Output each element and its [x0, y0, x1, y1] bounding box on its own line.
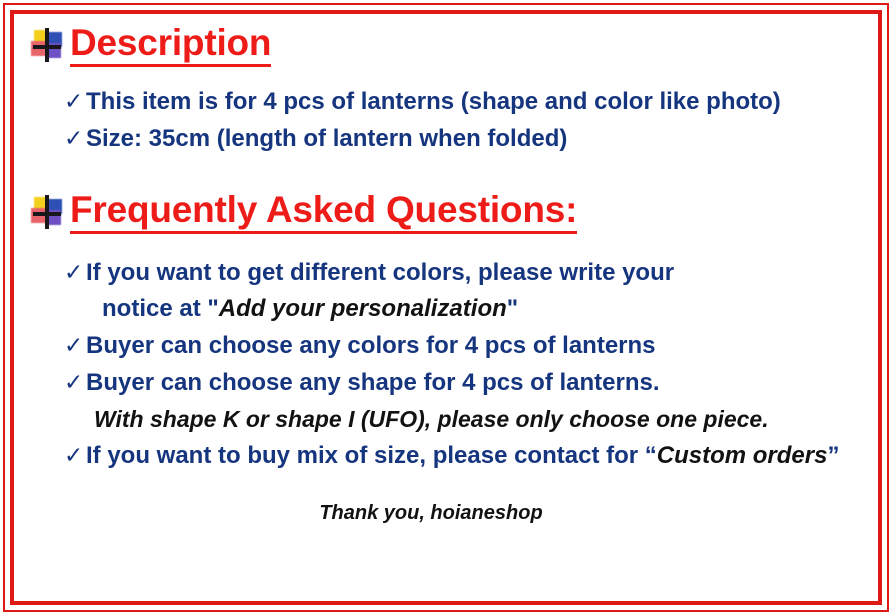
checkmark-icon: ✓: [64, 83, 86, 119]
footer-signature: Thank you, hoianeshop: [22, 502, 870, 525]
faq-heading: Frequently Asked Questions:: [70, 191, 577, 234]
list-item: ✓ Buyer can choose any colors for 4 pcs …: [64, 327, 870, 364]
colored-cross-icon: [30, 28, 64, 62]
description-heading: Description: [70, 24, 271, 67]
description-heading-row: Description: [30, 24, 870, 67]
icon-cross-horizontal: [33, 212, 61, 216]
custom-orders-prefix: If you want to buy mix of size, please c…: [86, 442, 657, 469]
checkmark-icon: ✓: [64, 254, 86, 290]
icon-cross-horizontal: [33, 45, 61, 49]
checkmark-icon: ✓: [64, 327, 86, 363]
description-list: ✓ This item is for 4 pcs of lanterns (sh…: [64, 83, 870, 157]
shape-note: With shape K or shape I (UFO), please on…: [94, 401, 870, 437]
continuation-suffix: ": [507, 295, 518, 322]
custom-orders-emphasis: Custom orders: [657, 442, 828, 469]
checkmark-icon: ✓: [64, 437, 86, 473]
list-item: ✓ If you want to get different colors, p…: [64, 254, 870, 291]
checkmark-icon: ✓: [64, 364, 86, 400]
list-item: ✓ Size: 35cm (length of lantern when fol…: [64, 120, 870, 157]
list-item-text: Size: 35cm (length of lantern when folde…: [86, 121, 567, 157]
custom-orders-suffix: ”: [827, 442, 839, 469]
list-item-text: Buyer can choose any colors for 4 pcs of…: [86, 328, 656, 364]
faq-heading-row: Frequently Asked Questions:: [30, 191, 870, 234]
list-item-text: If you want to get different colors, ple…: [86, 255, 674, 291]
list-item: ✓ This item is for 4 pcs of lanterns (sh…: [64, 83, 870, 120]
list-item: ✓ If you want to buy mix of size, please…: [64, 437, 870, 474]
list-item-continuation: notice at "Add your personalization": [102, 291, 870, 327]
document-content: Description ✓ This item is for 4 pcs of …: [0, 0, 892, 615]
faq-list: ✓ If you want to get different colors, p…: [64, 254, 870, 474]
list-item: ✓ Buyer can choose any shape for 4 pcs o…: [64, 364, 870, 401]
checkmark-icon: ✓: [64, 120, 86, 156]
list-item-text: If you want to buy mix of size, please c…: [86, 438, 839, 474]
personalization-emphasis: Add your personalization: [219, 295, 507, 322]
list-item-text: This item is for 4 pcs of lanterns (shap…: [86, 84, 781, 120]
colored-cross-icon: [30, 195, 64, 229]
list-item-text: Buyer can choose any shape for 4 pcs of …: [86, 365, 660, 401]
description-document: Description ✓ This item is for 4 pcs of …: [0, 0, 892, 615]
continuation-prefix: notice at ": [102, 295, 219, 322]
